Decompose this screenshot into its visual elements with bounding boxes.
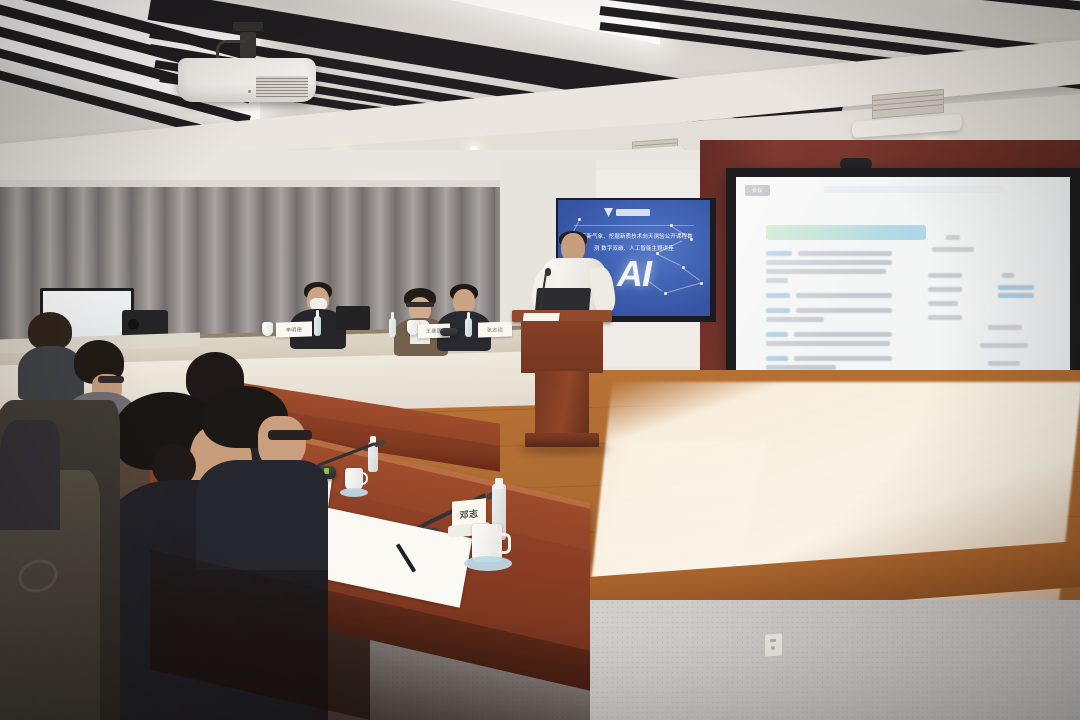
section-heading-bar — [766, 225, 926, 240]
speaker-podium — [512, 310, 612, 450]
logo-mark-icon — [604, 208, 613, 217]
paper-cup[interactable] — [262, 322, 273, 336]
audience-coat — [0, 420, 60, 530]
wall-power-outlet[interactable] — [764, 632, 783, 657]
water-bottle[interactable] — [314, 310, 321, 336]
screen-toolbar — [824, 186, 1004, 193]
name-card: 张志远 — [478, 321, 512, 337]
slide-logo — [604, 208, 650, 217]
name-card: 李明德 — [276, 321, 312, 337]
conference-room-photo: 会议 — [0, 0, 1080, 720]
projector-vent-grille — [256, 76, 308, 100]
laptop[interactable] — [336, 306, 370, 330]
gooseneck-conference-microphone[interactable] — [440, 328, 458, 336]
blue-coaster — [340, 488, 368, 497]
seated-audience-member — [196, 386, 322, 536]
name-card-text: 邓志 — [452, 506, 486, 523]
curtain-rail — [0, 180, 572, 187]
name-card-text: 李明德 — [276, 325, 312, 333]
ceiling-projector — [178, 48, 316, 106]
podium-shadow — [520, 444, 610, 454]
screen-badge: 会议 — [745, 185, 770, 196]
water-bottle[interactable] — [389, 312, 396, 337]
podium-microphone[interactable] — [545, 268, 551, 276]
blue-coaster — [464, 556, 512, 571]
name-card-text: 张志远 — [478, 325, 512, 333]
water-bottle[interactable] — [465, 312, 472, 337]
projector-indicator — [248, 90, 251, 93]
dark-slat-ceiling-panel — [820, 0, 1080, 14]
